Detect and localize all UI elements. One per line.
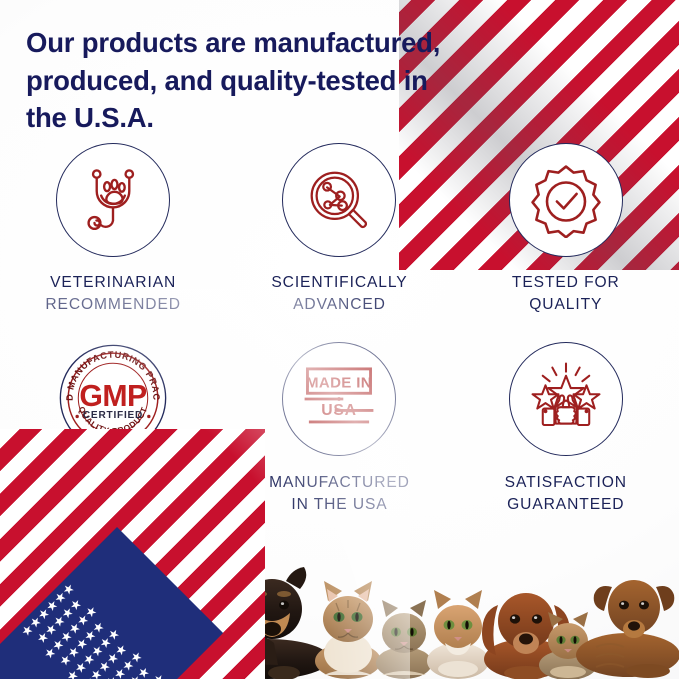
star-row: ★★★★★★ bbox=[0, 553, 150, 679]
badge-tested-for-quality: TESTED FOR QUALITY bbox=[463, 143, 669, 316]
star-row: ★★★★★★ bbox=[0, 531, 127, 679]
trust-badge-grid: VETERINARIAN RECOMMENDED bbox=[0, 143, 679, 517]
badge-cgmp-compliant: GOOD MANUFACTURING PRACTICE QUALITY PROD… bbox=[10, 342, 216, 492]
badge-label: MANUFACTURED IN THE USA bbox=[269, 472, 410, 516]
gmp-center-text: GMP bbox=[80, 380, 148, 413]
badge-ring: MADE IN USA bbox=[282, 342, 396, 456]
badge-ring bbox=[509, 143, 623, 257]
star-row: ★★★★★ bbox=[48, 610, 206, 679]
pet-cat-white-orange bbox=[427, 590, 489, 679]
badge-label: SATISFACTION GUARANTEED bbox=[505, 472, 627, 516]
badge-ring bbox=[509, 342, 623, 456]
badge-scientifically-advanced: SCIENTIFICALLY ADVANCED bbox=[236, 143, 442, 316]
made-in-usa-stamp-icon: MADE IN USA bbox=[296, 356, 382, 442]
badge-ring: GOOD MANUFACTURING PRACTICE QUALITY PROD… bbox=[57, 342, 169, 454]
star-row: ★★★★★★ bbox=[14, 576, 172, 679]
star-row: ★★★★★★ bbox=[59, 621, 217, 679]
star-row: ★★★★★ bbox=[0, 542, 138, 679]
page-title: Our products are manufactured, produced,… bbox=[26, 24, 496, 137]
flag-canton: ★★★★★★ ★★★★★ ★★★★★★ ★★★★★ ★★★★★★ ★★★★★ ★… bbox=[0, 527, 223, 679]
badge-row-1: VETERINARIAN RECOMMENDED bbox=[0, 143, 679, 316]
pet-dog-brown bbox=[576, 580, 679, 678]
promo-banner: Our products are manufactured, produced,… bbox=[0, 0, 679, 679]
stethoscope-paw-icon bbox=[76, 163, 150, 237]
stamp-line-1: MADE IN bbox=[306, 375, 372, 392]
badge-row-2: GOOD MANUFACTURING PRACTICE QUALITY PROD… bbox=[0, 342, 679, 516]
headline-line-1: Our products are manufactured, bbox=[26, 24, 496, 62]
gmp-subtitle: CERTIFIED bbox=[83, 410, 143, 421]
gmp-certified-seal-icon: GOOD MANUFACTURING PRACTICE QUALITY PROD… bbox=[57, 341, 169, 455]
badge-manufactured-in-the-usa: MADE IN USA MANUFACTURED IN THE USA bbox=[236, 342, 442, 516]
badge-veterinarian-recommended: VETERINARIAN RECOMMENDED bbox=[10, 143, 216, 316]
badge-label: SCIENTIFICALLY ADVANCED bbox=[271, 272, 407, 316]
thumbs-up-stars-icon bbox=[525, 358, 607, 440]
pet-cat-tabby-1 bbox=[315, 581, 381, 679]
pet-dog-black-tan bbox=[206, 567, 330, 679]
badge-ring bbox=[56, 143, 170, 257]
badge-label: CGMP COMPLIANT bbox=[36, 470, 190, 492]
star-row: ★★★★★ bbox=[25, 587, 183, 679]
star-row: ★★★★★★ bbox=[36, 598, 194, 679]
seal-checkmark-icon bbox=[528, 162, 604, 238]
badge-satisfaction-guaranteed: SATISFACTION GUARANTEED bbox=[463, 342, 669, 516]
magnifier-molecule-icon bbox=[304, 165, 374, 235]
star-row: ★★★★★ bbox=[2, 564, 160, 679]
headline-line-2: produced, and quality-tested in bbox=[26, 62, 496, 100]
badge-label: VETERINARIAN RECOMMENDED bbox=[45, 272, 181, 316]
stamp-line-2: USA bbox=[322, 402, 357, 419]
badge-ring bbox=[282, 143, 396, 257]
pet-cat-tabby-2 bbox=[376, 600, 432, 679]
headline-line-3: the U.S.A. bbox=[26, 99, 496, 137]
dogs-and-cats-group-photo bbox=[196, 543, 679, 679]
badge-label: TESTED FOR QUALITY bbox=[512, 272, 620, 316]
